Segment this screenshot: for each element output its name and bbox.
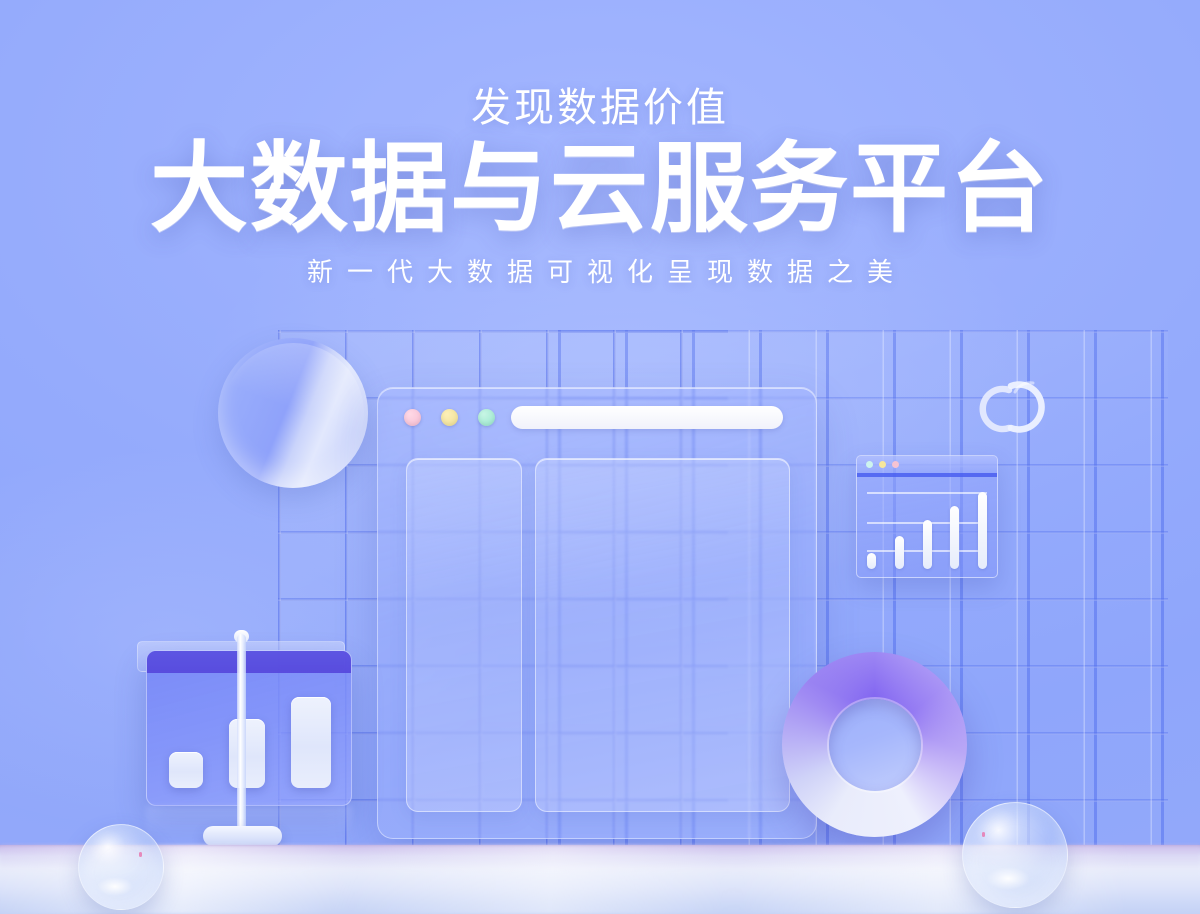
torus-ring	[782, 652, 967, 837]
bar-stat-card[interactable]	[146, 650, 352, 806]
bar-chart-window[interactable]	[856, 455, 998, 578]
sphere-highlight	[97, 877, 132, 895]
minimize-dot[interactable]	[441, 409, 458, 426]
stat-card-bars	[169, 697, 331, 788]
maximize-dot[interactable]	[478, 409, 495, 426]
sidebar-panel[interactable]	[406, 458, 522, 812]
close-dot[interactable]	[404, 409, 421, 426]
chart-bar	[950, 506, 959, 569]
chart-bar	[867, 553, 876, 569]
content-panel[interactable]	[535, 458, 790, 812]
minimize-dot[interactable]	[879, 461, 886, 468]
stand-pole	[237, 634, 246, 840]
maximize-dot[interactable]	[892, 461, 899, 468]
close-dot[interactable]	[866, 461, 873, 468]
glass-sphere-right	[962, 802, 1068, 908]
stat-bar	[169, 752, 203, 788]
chart-window-accent-line	[857, 473, 997, 477]
chart-window-titlebar	[857, 456, 997, 473]
chart-bar	[895, 536, 904, 569]
sphere-speck	[982, 832, 985, 837]
stat-bar	[229, 719, 265, 788]
chart-bar	[978, 492, 987, 569]
eyebrow-text: 发现数据价值	[0, 86, 1200, 130]
sphere-speck	[139, 852, 142, 857]
browser-titlebar	[378, 388, 816, 446]
sphere-disc	[218, 338, 368, 488]
browser-mockup[interactable]	[377, 387, 817, 839]
stat-card-header	[147, 651, 351, 673]
stand-base	[203, 826, 282, 846]
cloud-icon	[975, 362, 1061, 436]
sphere-highlight	[986, 867, 1030, 890]
chart-bars	[867, 482, 987, 569]
page-title: 大数据与云服务平台	[0, 136, 1200, 242]
stat-bar	[291, 697, 331, 788]
hero-banner: 发现数据价值 大数据与云服务平台 新一代大数据可视化呈现数据之美	[0, 0, 1200, 914]
address-bar[interactable]	[511, 406, 783, 429]
hero-text-block: 发现数据价值 大数据与云服务平台 新一代大数据可视化呈现数据之美	[0, 86, 1200, 289]
tagline-text: 新一代大数据可视化呈现数据之美	[0, 252, 1200, 289]
glass-sphere-left	[78, 824, 164, 910]
chart-bar	[923, 520, 932, 569]
